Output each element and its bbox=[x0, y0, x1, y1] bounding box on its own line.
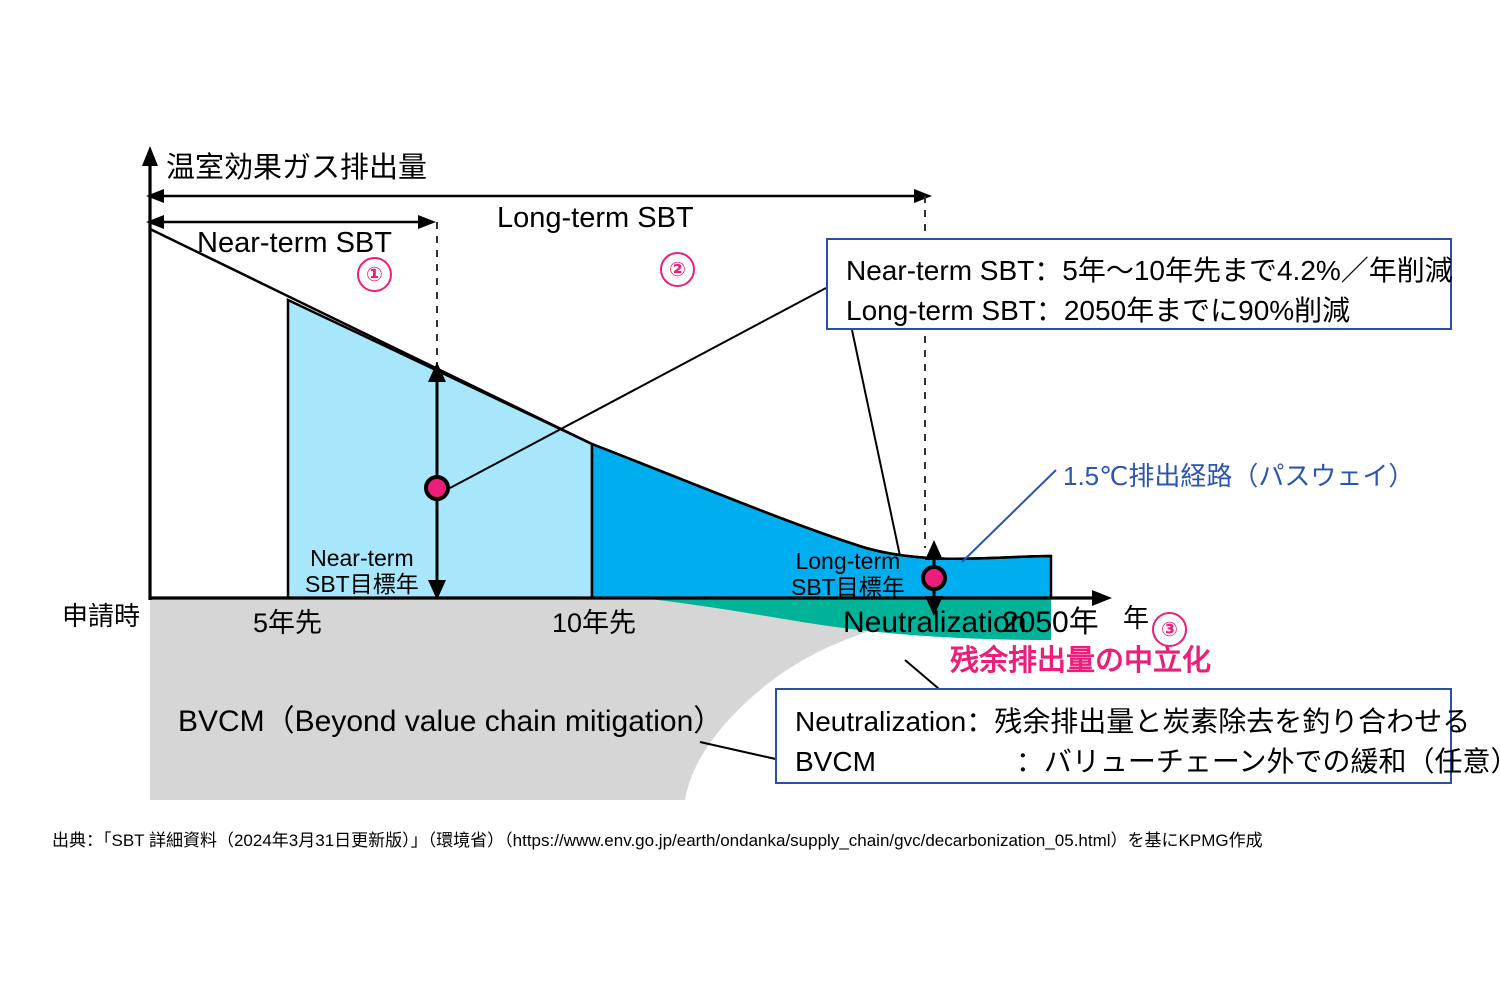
year-2050-label: 2050年 bbox=[1002, 606, 1099, 640]
bottom-callout-box: Neutralization：残余排出量と炭素除去を釣り合わせる BVCM ：バ… bbox=[775, 688, 1452, 784]
marker-2-badge: ② bbox=[660, 252, 695, 287]
top-callout-leader-1 bbox=[450, 288, 826, 488]
near-term-span-label: Near-term SBT bbox=[197, 227, 392, 259]
long-term-target-dot bbox=[921, 565, 947, 591]
near-term-span-arrow-right bbox=[418, 215, 436, 229]
pathway-leader bbox=[962, 470, 1056, 562]
long-term-span-arrow-right bbox=[914, 189, 932, 203]
neutralization-label: Neutralization bbox=[843, 606, 1026, 640]
bottom-callout-leader-1 bbox=[700, 742, 780, 760]
top-callout-line-1: Near-term SBT：5年〜10年先まで4.2%／年削減 bbox=[846, 249, 1432, 289]
x-axis-arrowhead bbox=[1092, 590, 1112, 606]
origin-label: 申請時 bbox=[62, 602, 140, 631]
y-axis-arrowhead bbox=[142, 146, 158, 166]
tick-label-10yr: 10年先 bbox=[552, 608, 636, 638]
x-axis-title: 年 bbox=[1123, 604, 1149, 633]
near-term-target-year-label: Near-term SBT目標年 bbox=[305, 546, 419, 598]
marker-1-badge: ① bbox=[357, 257, 392, 292]
source-footnote: 出典：「SBT 詳細資料（2024年3月31日更新版）」（環境省）（https:… bbox=[52, 826, 1263, 851]
bottom-callout-line-1: Neutralization：残余排出量と炭素除去を釣り合わせる bbox=[795, 700, 1432, 740]
tick-label-5yr: 5年先 bbox=[253, 608, 322, 638]
near-term-target-dot bbox=[424, 475, 450, 501]
top-callout-box: Near-term SBT：5年〜10年先まで4.2%／年削減 Long-ter… bbox=[826, 238, 1452, 330]
pathway-annotation: 1.5℃排出経路（パスウェイ） bbox=[1063, 462, 1414, 491]
top-callout-leader-2 bbox=[852, 330, 900, 556]
bvcm-label: BVCM（Beyond value chain mitigation） bbox=[178, 705, 723, 739]
long-term-span-label: Long-term SBT bbox=[497, 202, 694, 234]
top-callout-line-2: Long-term SBT：2050年までに90%削減 bbox=[846, 289, 1432, 329]
long-term-measure-arrow-top bbox=[925, 540, 943, 560]
diagram-canvas: 温室効果ガス排出量 Long-term SBT ② Near-term SBT … bbox=[0, 0, 1500, 1000]
y-axis-title: 温室効果ガス排出量 bbox=[166, 152, 427, 184]
residual-neutralization-annotation: 残余排出量の中立化 bbox=[950, 645, 1211, 677]
long-term-target-year-label: Long-term SBT目標年 bbox=[791, 549, 905, 601]
marker-3-badge: ③ bbox=[1152, 612, 1187, 647]
bottom-callout-line-2: BVCM ：バリューチェーン外での緩和（任意） bbox=[795, 740, 1432, 780]
